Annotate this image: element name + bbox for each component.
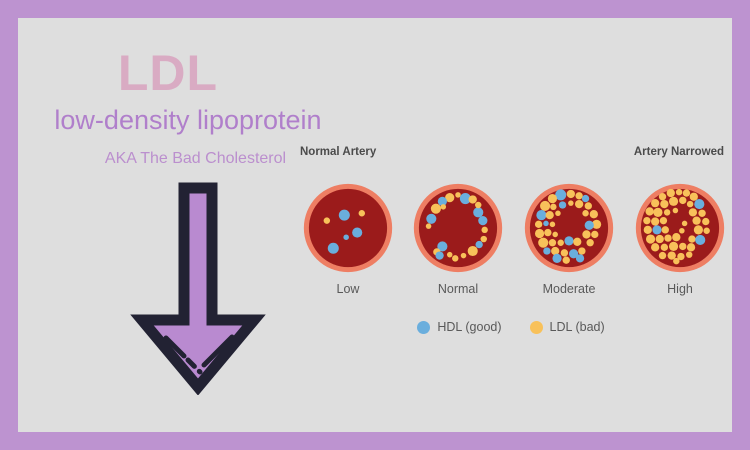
ldl-particle <box>567 190 575 198</box>
hdl-particle <box>564 236 573 245</box>
ldl-particle <box>661 244 668 251</box>
ldl-particle <box>481 236 487 242</box>
ldl-particle <box>656 235 664 243</box>
ldl-particle <box>582 210 588 216</box>
artery-label-high: High <box>634 282 726 296</box>
ldl-particle <box>660 200 668 208</box>
ldl-particle <box>550 222 556 228</box>
hdl-particle <box>552 254 561 263</box>
ldl-particle <box>568 200 574 206</box>
hdl-particle <box>343 234 349 240</box>
ldl-particle <box>679 197 686 204</box>
artery-svg <box>634 182 726 274</box>
ldl-particle <box>653 208 662 217</box>
ldl-particle <box>535 229 544 238</box>
artery-svg <box>412 182 504 274</box>
hdl-particle <box>543 247 550 254</box>
legend: HDL (good) LDL (bad) <box>290 320 732 334</box>
caption-artery-narrowed: Artery Narrowed <box>634 146 724 158</box>
legend-item-ldl: LDL (bad) <box>530 320 605 334</box>
arrow-body <box>142 188 254 387</box>
ldl-particle <box>669 242 678 251</box>
ldl-particle <box>692 217 700 225</box>
ldl-particle <box>591 231 598 238</box>
legend-label-hdl: HDL (good) <box>437 320 501 334</box>
hdl-particle <box>585 221 594 230</box>
ldl-particle <box>651 243 659 251</box>
ldl-particle <box>646 207 654 215</box>
ldl-particle <box>688 235 695 242</box>
ldl-particle <box>682 221 688 227</box>
ldl-particle <box>447 252 453 258</box>
legend-label-ldl: LDL (bad) <box>550 320 605 334</box>
artery-cross-section-high <box>634 182 726 274</box>
ldl-particle <box>673 208 679 214</box>
artery-svg <box>302 182 394 274</box>
ldl-particle <box>324 217 330 223</box>
hdl-particle <box>695 235 705 245</box>
ldl-particle <box>544 229 551 236</box>
ldl-particle <box>558 240 564 246</box>
ldl-particle <box>694 225 703 234</box>
ldl-particle <box>590 210 598 218</box>
hdl-particle <box>582 195 589 202</box>
ldl-particle <box>535 221 542 228</box>
caption-normal-artery: Normal Artery <box>300 146 376 158</box>
ldl-particle <box>552 232 558 238</box>
downward-arrow-icon <box>128 180 268 395</box>
ldl-dot-icon <box>530 321 543 334</box>
ldl-particle <box>690 193 698 201</box>
artery-cross-section-low <box>302 182 394 274</box>
ldl-particle <box>469 195 477 203</box>
ldl-particle <box>548 194 557 203</box>
hdl-particle <box>435 251 443 259</box>
ldl-particle <box>452 255 458 261</box>
ldl-particle <box>703 228 709 234</box>
hdl-particle <box>339 210 350 221</box>
hdl-particle <box>543 221 549 227</box>
artery-label-low: Low <box>302 282 394 296</box>
ldl-particle <box>549 239 556 246</box>
ldl-particle <box>659 193 666 200</box>
infographic-canvas: LDL low-density lipoprotein AKA The Bad … <box>0 0 750 450</box>
hdl-particle <box>559 201 566 208</box>
ldl-particle <box>538 238 548 248</box>
legend-item-hdl: HDL (good) <box>417 320 501 334</box>
ldl-particle <box>673 258 679 264</box>
ldl-particle <box>651 199 659 207</box>
ldl-particle <box>575 200 583 208</box>
ldl-particle <box>669 197 678 206</box>
ldl-particle <box>475 202 481 208</box>
ldl-particle <box>461 253 467 259</box>
ldl-particle <box>573 238 581 246</box>
hdl-particle <box>475 241 482 248</box>
ldl-particle <box>550 204 556 210</box>
artery-label-moderate: Moderate <box>523 282 615 296</box>
ldl-particle <box>651 217 659 225</box>
ldl-particle <box>546 211 554 219</box>
hdl-dot-icon <box>417 321 430 334</box>
ldl-particle <box>689 208 697 216</box>
ldl-particle <box>686 251 692 257</box>
page-subtitle: low-density lipoprotein <box>18 106 358 136</box>
hdl-particle <box>576 254 584 262</box>
ldl-particle <box>561 249 568 256</box>
artery-lumen <box>309 189 387 267</box>
artery-label-normal: Normal <box>412 282 504 296</box>
ldl-particle <box>585 202 592 209</box>
ldl-particle <box>698 210 705 217</box>
artery-svg <box>523 182 615 274</box>
ldl-particle <box>563 257 570 264</box>
ldl-particle <box>359 210 365 216</box>
artery-cross-section-normal <box>412 182 504 274</box>
ldl-particle <box>468 246 478 256</box>
hdl-particle <box>652 225 661 234</box>
ldl-particle <box>664 234 671 241</box>
ldl-particle <box>687 243 695 251</box>
ldl-particle <box>702 218 709 225</box>
artery-diagram: Normal Artery Artery Narrowed Low Normal… <box>290 140 732 360</box>
ldl-particle <box>578 247 585 254</box>
ldl-particle <box>586 239 593 246</box>
hdl-particle <box>536 210 546 220</box>
ldl-particle <box>687 201 693 207</box>
hdl-particle <box>426 214 436 224</box>
ldl-particle <box>644 226 652 234</box>
ldl-particle <box>540 201 550 211</box>
ldl-particle <box>555 211 561 217</box>
hdl-particle <box>328 243 339 254</box>
hdl-particle <box>694 199 704 209</box>
ldl-particle <box>667 189 675 197</box>
ldl-particle <box>683 189 690 196</box>
ldl-particle <box>575 192 582 199</box>
hdl-particle <box>478 216 487 225</box>
hdl-particle <box>352 228 362 238</box>
page-title: LDL <box>18 48 318 98</box>
ldl-particle <box>481 227 487 233</box>
ldl-particle <box>646 234 655 243</box>
ldl-particle <box>431 204 441 214</box>
ldl-particle <box>455 192 461 198</box>
ldl-particle <box>582 230 590 238</box>
artery-cross-section-moderate <box>523 182 615 274</box>
ldl-particle <box>679 243 686 250</box>
ldl-particle <box>672 233 680 241</box>
downward-arrow <box>128 180 268 395</box>
ldl-particle <box>679 228 685 234</box>
ldl-particle <box>659 252 666 259</box>
ldl-particle <box>676 189 682 195</box>
ldl-particle <box>643 217 650 224</box>
ldl-particle <box>664 209 670 215</box>
ldl-particle <box>662 226 669 233</box>
hdl-particle <box>473 207 483 217</box>
ldl-particle <box>441 204 447 210</box>
ldl-particle <box>426 223 432 229</box>
ldl-particle <box>660 217 667 224</box>
infographic-inner-panel: LDL low-density lipoprotein AKA The Bad … <box>18 18 732 432</box>
